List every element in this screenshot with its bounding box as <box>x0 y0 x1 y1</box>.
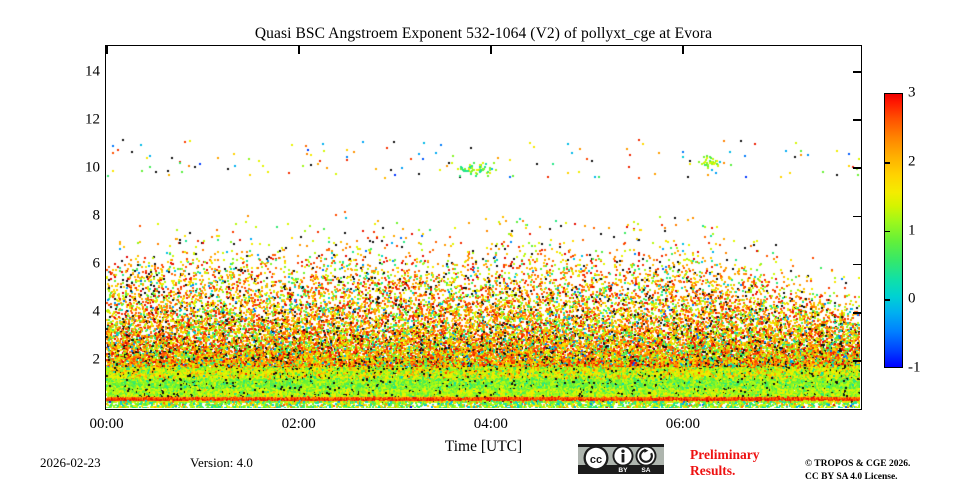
colorbar-tick-label-1: 1 <box>908 222 916 239</box>
copyright-line-2: CC BY SA 4.0 License. <box>805 471 910 484</box>
y-tick-mark <box>105 217 106 219</box>
y-tick-mark <box>105 121 106 123</box>
footer-date: 2026-02-23 <box>40 455 101 471</box>
colorbar-tick-label-2: 2 <box>908 153 916 170</box>
y-tick-mark <box>105 73 106 75</box>
y-tick-mark-right <box>853 71 861 73</box>
x-tick-label-0000: 00:00 <box>90 416 124 433</box>
badge-by-label: BY <box>618 467 628 474</box>
y-tick-mark-right <box>853 360 861 362</box>
colorbar-tick-label-0: 0 <box>908 291 916 308</box>
preliminary-line-2: Results. <box>690 463 759 479</box>
y-tick-label-6: 6 <box>60 256 100 273</box>
preliminary-results-notice: Preliminary Results. <box>690 447 759 478</box>
y-tick-label-14: 14 <box>60 63 100 80</box>
x-tick-mark <box>108 409 110 410</box>
x-tick-mark-top <box>682 46 684 54</box>
y-axis-tick-labels: 2468101214 <box>55 45 100 410</box>
y-tick-mark-right <box>853 216 861 218</box>
plot-area[interactable] <box>105 45 862 410</box>
x-tick-mark <box>300 409 302 410</box>
x-tick-mark-top <box>106 46 108 54</box>
scatter-plot-canvas <box>106 46 860 408</box>
y-tick-mark <box>105 313 106 315</box>
x-tick-mark <box>684 409 686 410</box>
x-tick-mark <box>492 409 494 410</box>
y-tick-mark-right <box>853 312 861 314</box>
x-tick-label-0400: 04:00 <box>474 416 508 433</box>
y-tick-mark-right <box>853 167 861 169</box>
badge-sa-label: SA <box>641 467 650 474</box>
x-tick-mark-top <box>298 46 300 54</box>
y-tick-label-8: 8 <box>60 208 100 225</box>
page-title: Quasi BSC Angstroem Exponent 532-1064 (V… <box>105 25 862 43</box>
colorbar-tick-label-3: 3 <box>908 85 916 102</box>
y-tick-label-12: 12 <box>60 111 100 128</box>
y-tick-mark <box>105 265 106 267</box>
y-tick-label-2: 2 <box>60 352 100 369</box>
preliminary-line-1: Preliminary <box>690 447 759 463</box>
footer-version: Version: 4.0 <box>190 455 253 471</box>
x-tick-label-0600: 06:00 <box>666 416 700 433</box>
colorbar-tick-labels: 3210-1 <box>884 93 944 368</box>
x-tick-label-0200: 02:00 <box>282 416 316 433</box>
x-axis-tick-labels: 00:0002:0004:0006:00 <box>105 414 862 438</box>
y-tick-label-10: 10 <box>60 160 100 177</box>
y-tick-mark <box>105 169 106 171</box>
figure-canvas: Quasi BSC Angstroem Exponent 532-1064 (V… <box>0 0 960 480</box>
cc-by-sa-logo[interactable]: cc BY SA <box>578 444 664 474</box>
y-tick-mark-right <box>853 119 861 121</box>
y-tick-mark <box>105 361 106 363</box>
svg-text:cc: cc <box>590 454 602 466</box>
colorbar-tick-label-neg1: -1 <box>908 360 921 377</box>
y-tick-label-4: 4 <box>60 304 100 321</box>
copyright-line-1: © TROPOS & CGE 2026. <box>805 458 910 471</box>
x-tick-mark-top <box>490 46 492 54</box>
y-tick-mark-right <box>853 264 861 266</box>
